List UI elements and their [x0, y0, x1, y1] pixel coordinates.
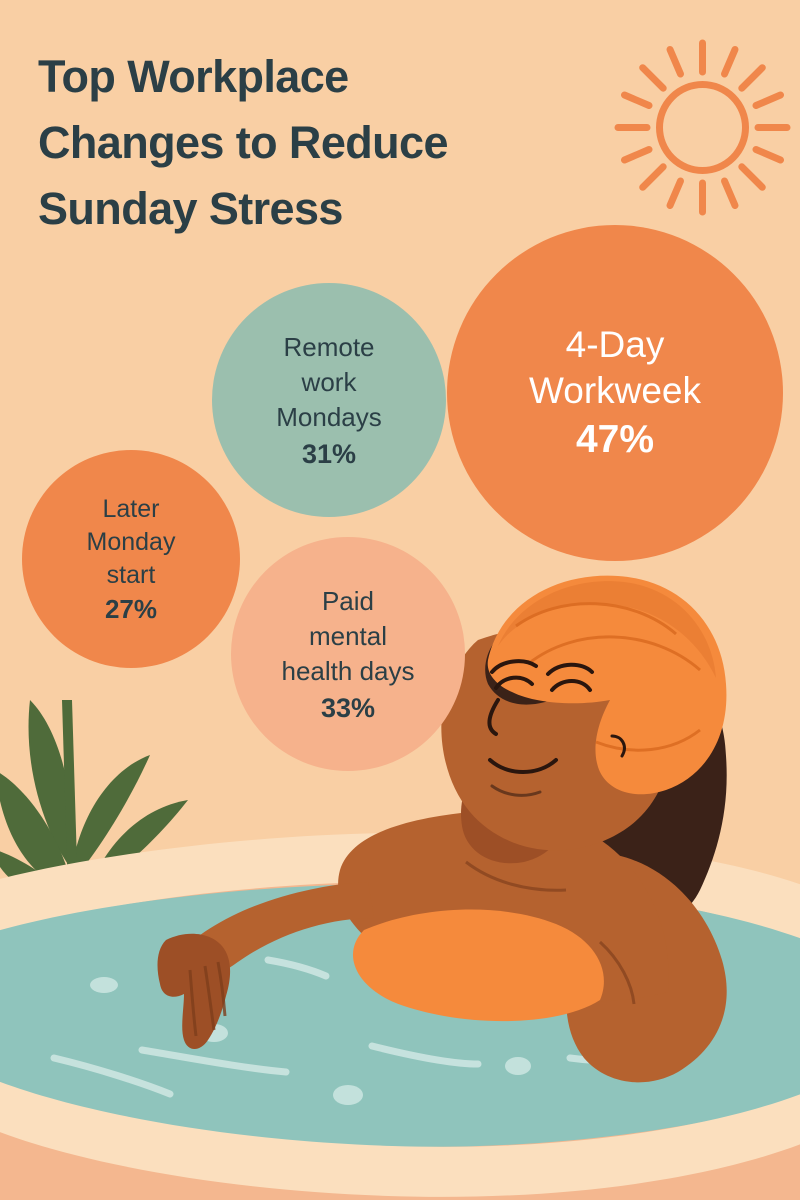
bubble-label: Remote work Mondays	[276, 330, 382, 435]
bubble-value: 27%	[105, 593, 157, 626]
bubble-paid-mental-health-days[interactable]: Paid mental health days 33%	[231, 537, 465, 771]
title-line-2: Changes to Reduce	[38, 110, 618, 176]
sun-icon	[610, 35, 795, 220]
bubble-4-day-workweek[interactable]: 4-Day Workweek 47%	[447, 225, 783, 561]
bubble-remote-work-mondays[interactable]: Remote work Mondays 31%	[212, 283, 446, 517]
bubble-later-monday-start[interactable]: Later Monday start 27%	[22, 450, 240, 668]
bubble-value: 47%	[576, 416, 654, 464]
bubble-value: 33%	[321, 691, 375, 725]
page-title: Top Workplace Changes to Reduce Sunday S…	[38, 44, 618, 242]
title-line-1: Top Workplace	[38, 44, 618, 110]
title-line-3: Sunday Stress	[38, 176, 618, 242]
bubble-value: 31%	[302, 437, 356, 471]
bubble-label: Paid mental health days	[282, 584, 415, 689]
bubble-label: 4-Day Workweek	[529, 322, 701, 414]
bubble-label: Later Monday start	[87, 493, 176, 592]
infographic-poster: Top Workplace Changes to Reduce Sunday S…	[0, 0, 800, 1200]
